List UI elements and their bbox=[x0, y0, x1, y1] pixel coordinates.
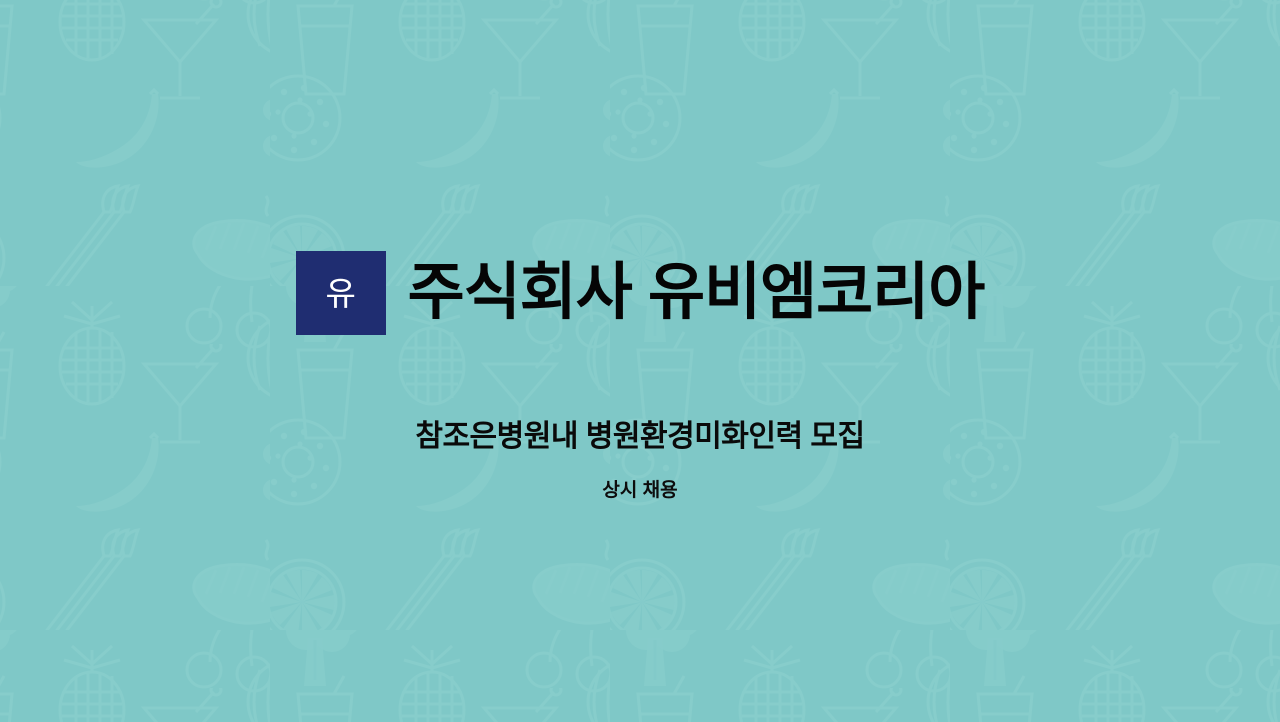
job-title: 참조은병원내 병원환경미화인력 모집 bbox=[415, 411, 864, 455]
hiring-status-label: 상시 채용 bbox=[602, 475, 677, 502]
banner-content: 유 주식회사 유비엠코리아 참조은병원내 병원환경미화인력 모집 상시 채용 bbox=[0, 0, 1280, 722]
company-logo-glyph: 유 bbox=[325, 277, 355, 310]
job-posting-banner: 유 주식회사 유비엠코리아 참조은병원내 병원환경미화인력 모집 상시 채용 bbox=[0, 0, 1280, 722]
company-logo-mark: 유 bbox=[296, 251, 386, 335]
company-name: 주식회사 유비엠코리아 bbox=[408, 260, 985, 325]
company-title-row: 유 주식회사 유비엠코리아 bbox=[296, 247, 985, 339]
